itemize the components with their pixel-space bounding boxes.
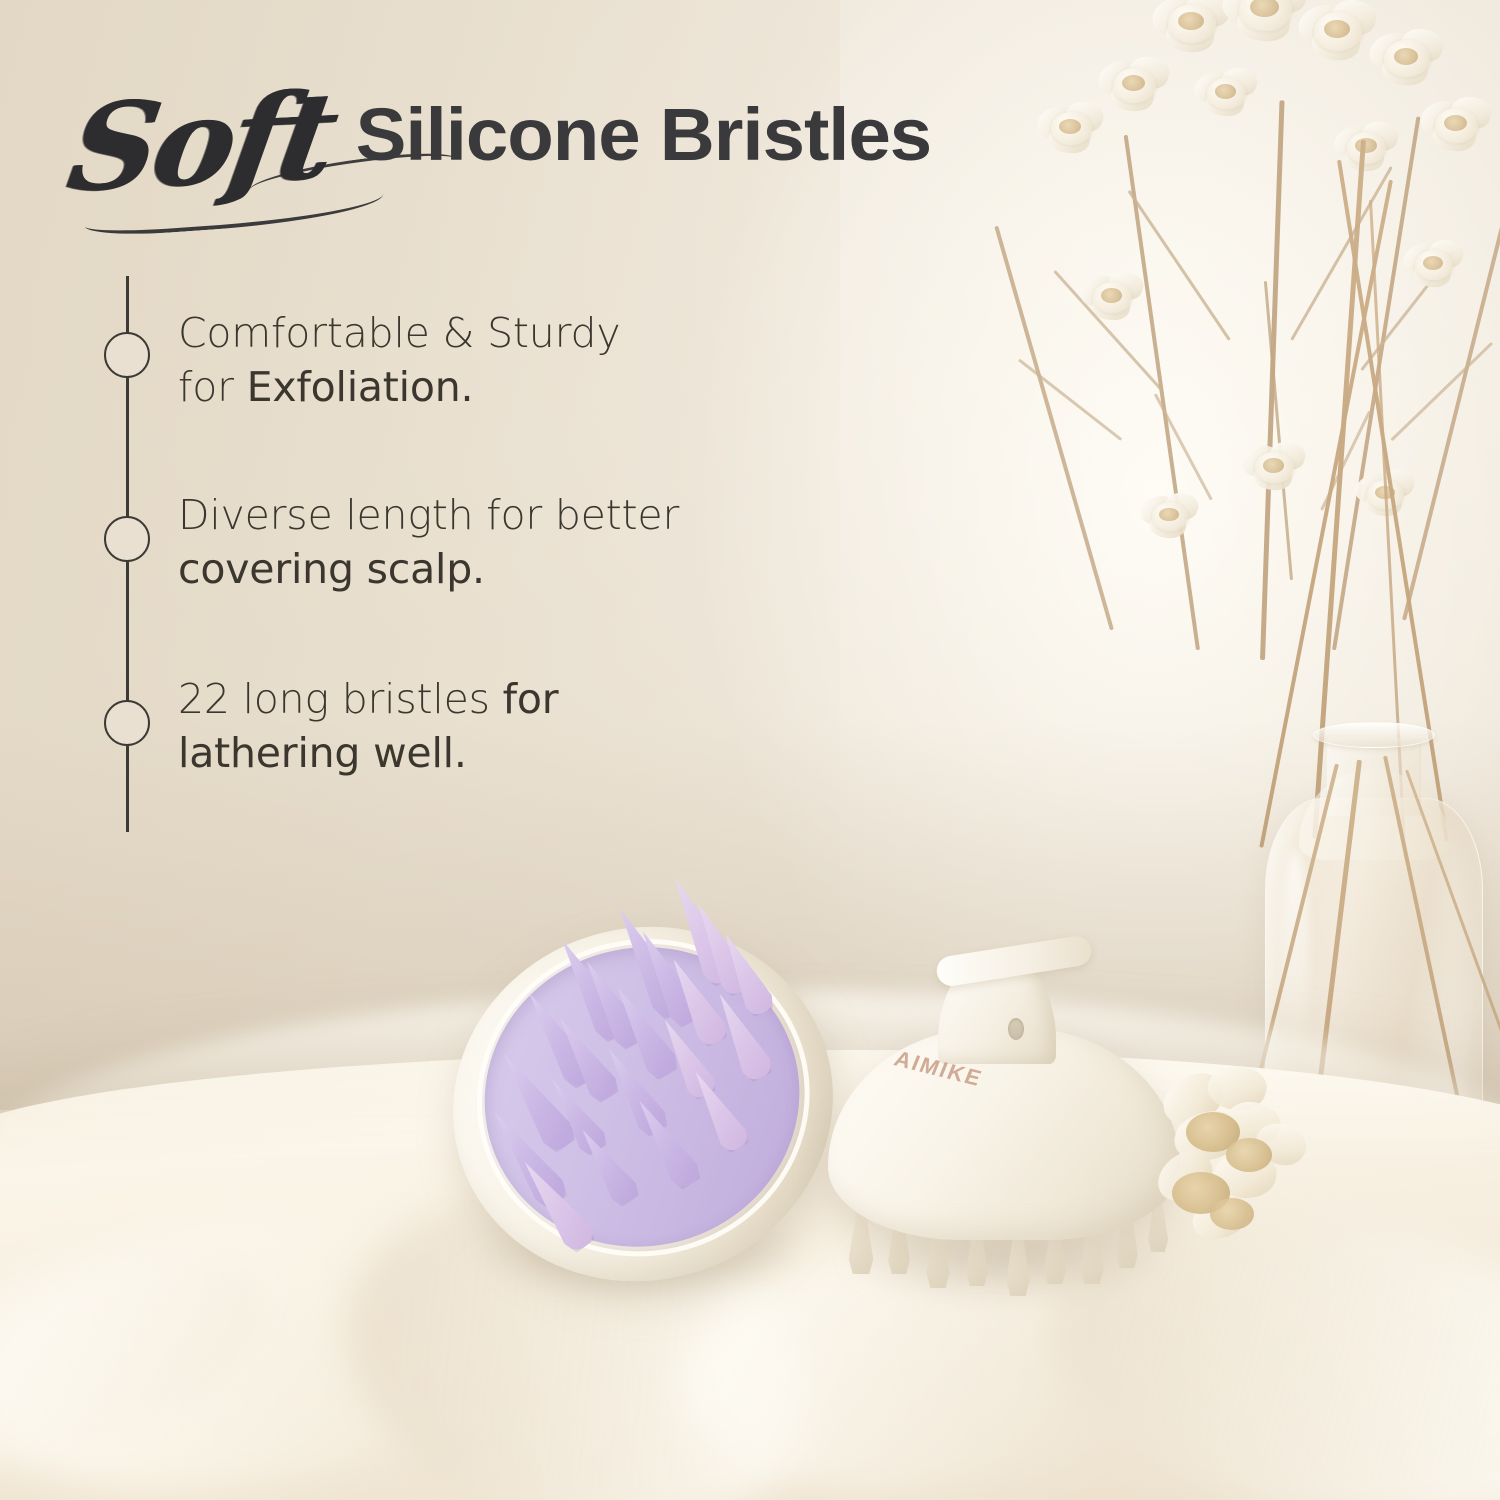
purple-scalp-brush <box>432 900 852 1300</box>
timeline-node-2 <box>104 516 150 562</box>
headline-bold-words: Silicone Bristles <box>356 92 932 177</box>
dried-flower-cluster <box>1152 1068 1382 1298</box>
brush-hang-hole <box>1008 1018 1024 1040</box>
flower-stem <box>1390 342 1492 441</box>
timeline-node-3 <box>104 700 150 746</box>
blossom-center <box>1215 84 1236 99</box>
feature-line-1-light: 22 long bristles <box>178 675 503 723</box>
cream-scalp-brush: AIMIKE <box>818 930 1198 1330</box>
product-infographic: AIMIKE Soft Silicone Bristles Comfortabl… <box>0 0 1500 1500</box>
feature-line-1-strong: for <box>503 675 559 723</box>
blossom-center <box>1394 48 1419 65</box>
blossom-center <box>1101 288 1122 303</box>
flower-stem <box>1124 135 1200 650</box>
dried-seedhead <box>1226 1138 1272 1172</box>
feature-timeline: Comfortable & Sturdy for Exfoliation. Di… <box>104 276 724 836</box>
dried-seedhead <box>1210 1198 1254 1230</box>
feature-lathering: 22 long bristles for lathering well. <box>178 672 798 780</box>
feature-line-1: Diverse length for better <box>178 491 679 539</box>
feature-line-2-strong: covering scalp. <box>178 545 485 593</box>
feature-scalp-coverage: Diverse length for better covering scalp… <box>178 488 798 596</box>
dried-flowers-arrangement <box>960 0 1500 760</box>
blossom-center <box>1324 20 1350 38</box>
blossom-center <box>1159 508 1179 522</box>
feature-line-1: Comfortable & Sturdy <box>178 309 620 357</box>
blossom-center <box>1263 458 1284 473</box>
feature-exfoliation: Comfortable & Sturdy for Exfoliation. <box>178 306 798 414</box>
timeline-node-1 <box>104 332 150 378</box>
blossom-center <box>1355 138 1376 153</box>
headline: Soft Silicone Bristles <box>72 76 1032 206</box>
flower-stem <box>1018 359 1122 441</box>
blossom-center <box>1178 12 1204 30</box>
feature-line-2-strong: lathering well. <box>178 729 467 777</box>
vase-lip <box>1313 722 1435 748</box>
feature-line-2-light: for <box>178 363 247 411</box>
flower-stem <box>1154 393 1213 500</box>
feature-line-2-strong: Exfoliation. <box>247 363 474 411</box>
